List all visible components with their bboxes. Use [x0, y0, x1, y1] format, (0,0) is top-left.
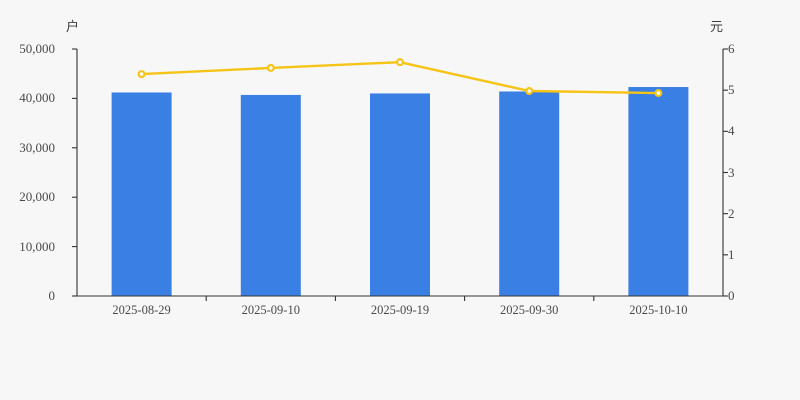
line-marker — [139, 71, 145, 77]
x-tick-label: 2025-09-10 — [242, 303, 300, 318]
line-marker — [397, 59, 403, 65]
bar-series — [112, 87, 689, 296]
x-tick-label: 2025-09-30 — [500, 303, 558, 318]
left-tick-label: 50,000 — [19, 41, 55, 57]
left-tick-label: 40,000 — [19, 90, 55, 106]
bar — [499, 91, 559, 296]
right-tick-label: 3 — [728, 165, 735, 181]
left-tick-label: 0 — [49, 288, 56, 304]
x-tick-label: 2025-09-19 — [371, 303, 429, 318]
x-tick-label: 2025-10-10 — [629, 303, 687, 318]
line-marker — [268, 65, 274, 71]
plot-area — [0, 0, 800, 400]
bar — [628, 87, 688, 296]
line-marker — [656, 90, 662, 96]
left-tick-label: 20,000 — [19, 189, 55, 205]
left-tick-label: 30,000 — [19, 140, 55, 156]
right-tick-label: 2 — [728, 206, 735, 222]
right-tick-label: 6 — [728, 41, 735, 57]
right-tick-label: 1 — [728, 247, 735, 263]
bar — [241, 95, 301, 296]
chart-container: 户 元 010,00020,00030,00040,00050,000 0123… — [0, 0, 800, 400]
left-tick-label: 10,000 — [19, 239, 55, 255]
right-tick-label: 5 — [728, 82, 735, 98]
line-marker — [526, 88, 532, 94]
line-series — [139, 59, 662, 96]
right-tick-label: 4 — [728, 123, 735, 139]
bar — [370, 93, 430, 296]
line-path — [142, 62, 659, 93]
bar — [112, 92, 172, 296]
x-tick-label: 2025-08-29 — [112, 303, 170, 318]
right-tick-label: 0 — [728, 288, 735, 304]
